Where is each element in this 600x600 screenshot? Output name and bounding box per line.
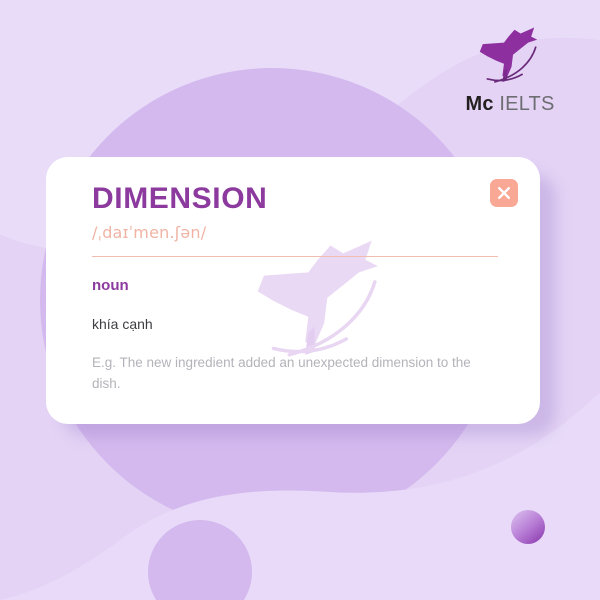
brand-wordmark: Mc IELTS — [450, 94, 570, 114]
card-content: DIMENSION /ˌdaɪˈmen.ʃən/ noun khía cạnh … — [46, 157, 540, 395]
word-title: DIMENSION — [92, 183, 494, 215]
brand-logo: Mc IELTS — [450, 26, 570, 114]
close-button[interactable] — [490, 179, 518, 207]
brand-name-light: IELTS — [499, 93, 554, 115]
example-sentence: E.g. The new ingredient added an unexpec… — [92, 352, 494, 396]
gradient-sphere-decor — [511, 510, 545, 544]
divider — [92, 256, 498, 257]
part-of-speech-label: noun — [92, 277, 494, 294]
word-phonetic: /ˌdaɪˈmen.ʃən/ — [92, 223, 494, 242]
hummingbird-icon — [464, 26, 556, 88]
translation-text: khía cạnh — [92, 316, 494, 332]
vocabulary-card: DIMENSION /ˌdaɪˈmen.ʃən/ noun khía cạnh … — [46, 157, 540, 424]
poster-canvas: Mc IELTS DIMENSION /ˌdaɪˈmen.ʃən/ noun k… — [0, 0, 600, 600]
brand-name-bold: Mc — [465, 93, 493, 115]
close-icon — [497, 186, 511, 200]
